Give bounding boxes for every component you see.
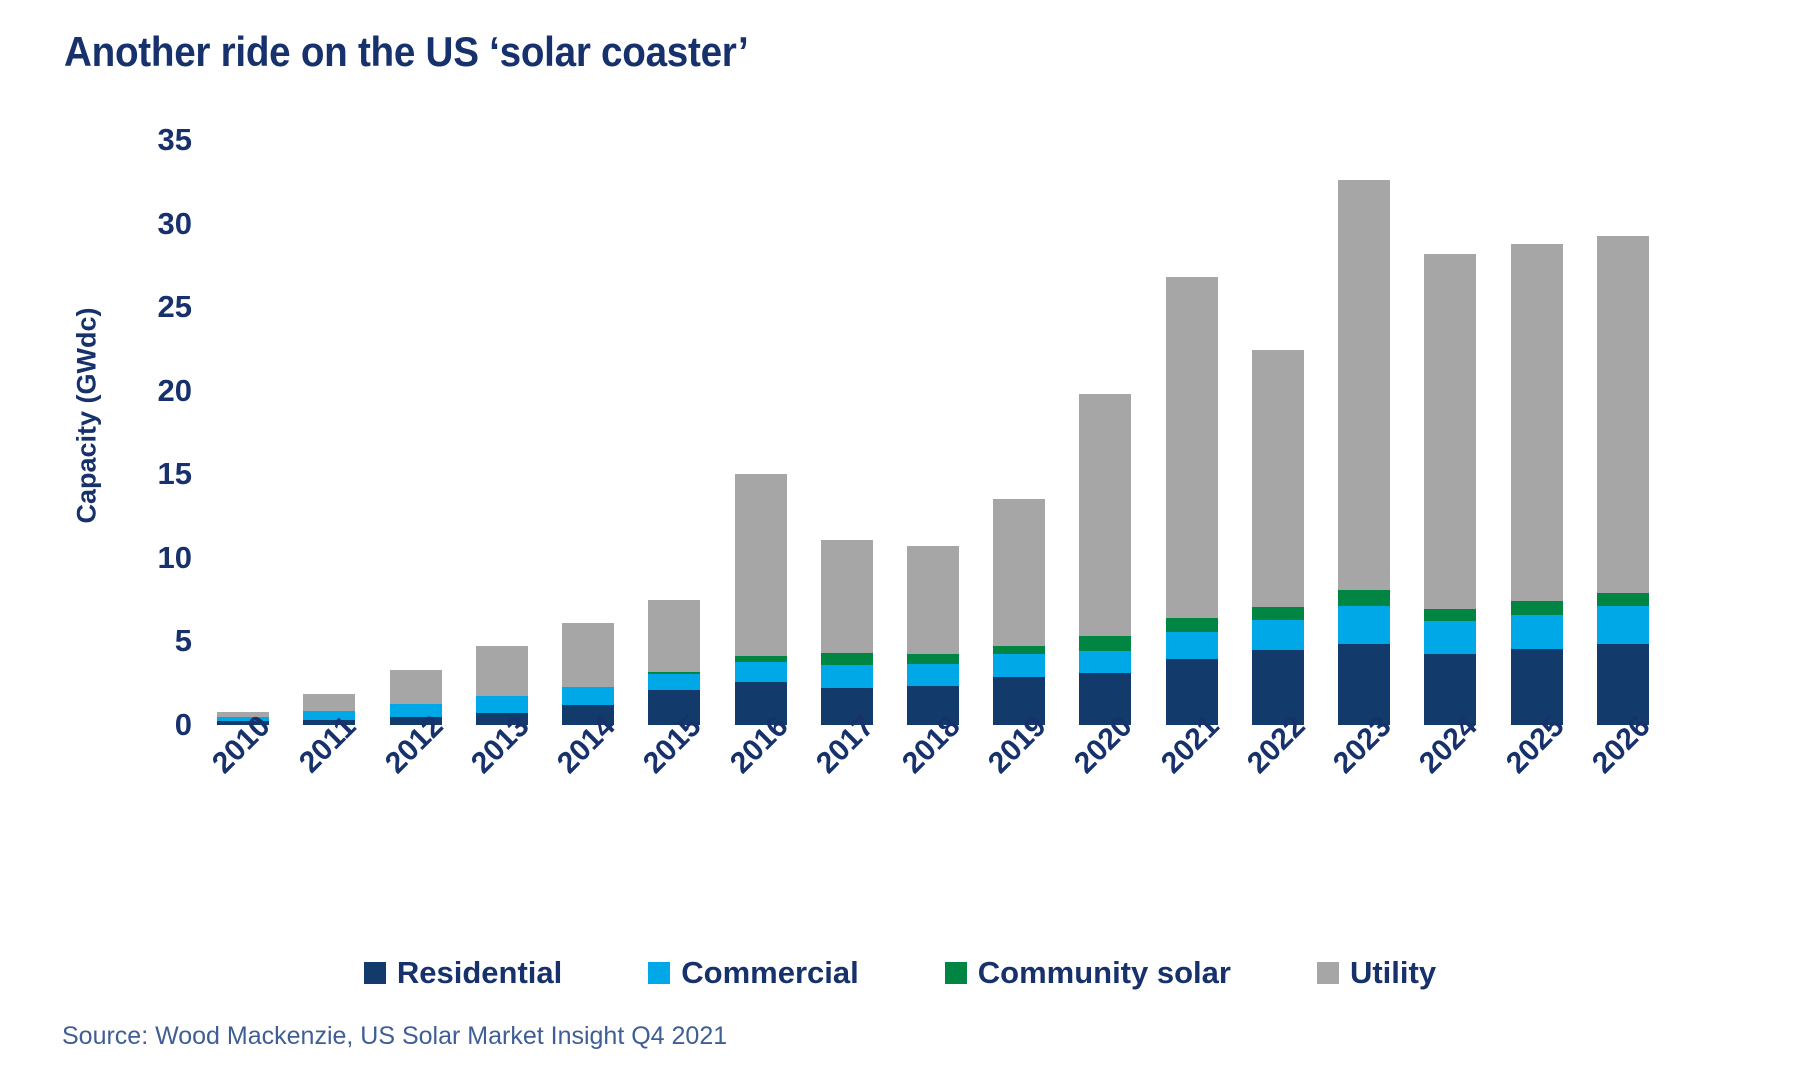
bar-segment-commercial[interactable] xyxy=(821,665,873,688)
x-axis-tick-cell: 2018 xyxy=(890,725,976,845)
stacked-bar[interactable] xyxy=(1252,350,1304,725)
bar-column[interactable] xyxy=(200,140,286,725)
bar-segment-community-solar[interactable] xyxy=(993,646,1045,654)
x-axis-tick-cell: 2024 xyxy=(1407,725,1493,845)
legend-swatch-icon xyxy=(648,962,670,984)
page-title: Another ride on the US ‘solar coaster’ xyxy=(64,28,748,76)
x-axis-tick-cell: 2025 xyxy=(1494,725,1580,845)
bar-segment-utility[interactable] xyxy=(390,670,442,704)
chart-container: Another ride on the US ‘solar coaster’ C… xyxy=(0,0,1800,1080)
plot-area xyxy=(200,140,1666,725)
bar-segment-commercial[interactable] xyxy=(562,687,614,705)
bar-segment-residential[interactable] xyxy=(1511,649,1563,725)
x-axis-tick-cell: 2013 xyxy=(459,725,545,845)
bar-segment-commercial[interactable] xyxy=(476,696,528,714)
x-axis-tick-labels: 2010201120122013201420152016201720182019… xyxy=(200,725,1666,845)
bar-segment-utility[interactable] xyxy=(562,623,614,687)
x-axis-tick-cell: 2019 xyxy=(976,725,1062,845)
bar-segment-utility[interactable] xyxy=(476,646,528,695)
bar-segment-residential[interactable] xyxy=(1166,659,1218,725)
bar-segment-community-solar[interactable] xyxy=(1338,590,1390,605)
bar-segment-community-solar[interactable] xyxy=(1511,601,1563,615)
legend-swatch-icon xyxy=(1317,962,1339,984)
stacked-bar[interactable] xyxy=(1338,180,1390,725)
legend-item-utility[interactable]: Utility xyxy=(1317,955,1436,991)
x-axis-tick-cell: 2011 xyxy=(286,725,372,845)
bar-segment-residential[interactable] xyxy=(1424,654,1476,725)
bar-segment-commercial[interactable] xyxy=(1166,632,1218,659)
legend-swatch-icon xyxy=(364,962,386,984)
legend-label: Commercial xyxy=(681,955,858,991)
bar-segment-community-solar[interactable] xyxy=(735,656,787,663)
bar-segment-utility[interactable] xyxy=(907,546,959,654)
y-axis-tick: 30 xyxy=(158,206,192,242)
legend-label: Residential xyxy=(397,955,562,991)
y-axis-tick: 15 xyxy=(158,456,192,492)
legend-item-residential[interactable]: Residential xyxy=(364,955,562,991)
bar-segment-community-solar[interactable] xyxy=(821,653,873,665)
bar-segment-utility[interactable] xyxy=(303,694,355,711)
stacked-bar[interactable] xyxy=(648,600,700,725)
bar-column[interactable] xyxy=(804,140,890,725)
bar-segment-utility[interactable] xyxy=(648,600,700,673)
bar-segment-community-solar[interactable] xyxy=(1424,609,1476,621)
y-axis-tick: 10 xyxy=(158,540,192,576)
x-axis-tick-cell: 2010 xyxy=(200,725,286,845)
x-axis-tick-cell: 2017 xyxy=(804,725,890,845)
y-axis-tick: 5 xyxy=(175,623,192,659)
y-axis-title: Capacity (GWdc) xyxy=(72,286,103,546)
bar-segment-utility[interactable] xyxy=(821,540,873,653)
bar-column[interactable] xyxy=(1321,140,1407,725)
legend-swatch-icon xyxy=(945,962,967,984)
x-axis-tick-cell: 2023 xyxy=(1321,725,1407,845)
y-axis-tick: 35 xyxy=(158,122,192,158)
bar-segment-commercial[interactable] xyxy=(735,662,787,682)
bar-segment-utility[interactable] xyxy=(1511,244,1563,601)
bar-column[interactable] xyxy=(1235,140,1321,725)
bar-column[interactable] xyxy=(1580,140,1666,725)
bar-segment-community-solar[interactable] xyxy=(1597,593,1649,606)
stacked-bar[interactable] xyxy=(1079,394,1131,725)
bar-segment-utility[interactable] xyxy=(1338,180,1390,590)
stacked-bar[interactable] xyxy=(1166,277,1218,725)
stacked-bar[interactable] xyxy=(735,474,787,726)
stacked-bar[interactable] xyxy=(476,646,528,725)
legend-label: Utility xyxy=(1350,955,1436,991)
x-axis-tick-cell: 2014 xyxy=(545,725,631,845)
bar-segment-commercial[interactable] xyxy=(1511,615,1563,649)
bar-segment-commercial[interactable] xyxy=(907,664,959,686)
x-axis-tick-cell: 2020 xyxy=(1062,725,1148,845)
stacked-bar[interactable] xyxy=(1597,236,1649,725)
x-axis-tick-cell: 2026 xyxy=(1580,725,1666,845)
stacked-bar[interactable] xyxy=(1424,254,1476,725)
bar-segment-utility[interactable] xyxy=(735,474,787,656)
bar-column[interactable] xyxy=(459,140,545,725)
x-axis-tick-cell: 2015 xyxy=(631,725,717,845)
bar-column[interactable] xyxy=(1149,140,1235,725)
bar-column[interactable] xyxy=(286,140,372,725)
bar-column[interactable] xyxy=(976,140,1062,725)
bar-segment-commercial[interactable] xyxy=(993,654,1045,677)
y-axis-tick-labels: 05101520253035 xyxy=(130,140,192,725)
bar-segment-utility[interactable] xyxy=(1079,394,1131,636)
bar-segment-utility[interactable] xyxy=(1424,254,1476,609)
x-axis-tick-cell: 2016 xyxy=(717,725,803,845)
bar-segment-commercial[interactable] xyxy=(1252,620,1304,650)
bar-segment-residential[interactable] xyxy=(1597,644,1649,725)
bar-segment-commercial[interactable] xyxy=(1424,621,1476,654)
bar-column[interactable] xyxy=(631,140,717,725)
bar-column[interactable] xyxy=(1407,140,1493,725)
bar-segment-community-solar[interactable] xyxy=(907,654,959,664)
bar-segment-residential[interactable] xyxy=(1338,644,1390,725)
bar-segment-utility[interactable] xyxy=(1252,350,1304,607)
y-axis-tick: 20 xyxy=(158,373,192,409)
x-axis-tick-cell: 2012 xyxy=(372,725,458,845)
y-axis-tick: 0 xyxy=(175,707,192,743)
bar-segment-commercial[interactable] xyxy=(390,704,442,717)
source-note: Source: Wood Mackenzie, US Solar Market … xyxy=(62,1022,727,1051)
bar-segment-commercial[interactable] xyxy=(1079,651,1131,673)
bar-group xyxy=(200,140,1666,725)
x-axis-tick-cell: 2021 xyxy=(1149,725,1235,845)
x-axis-tick-cell: 2022 xyxy=(1235,725,1321,845)
stacked-bar[interactable] xyxy=(821,540,873,725)
bar-segment-community-solar[interactable] xyxy=(1166,618,1218,632)
stacked-bar[interactable] xyxy=(1511,244,1563,725)
bar-segment-commercial[interactable] xyxy=(648,674,700,690)
bar-column[interactable] xyxy=(372,140,458,725)
chart-legend: ResidentialCommercialCommunity solarUtil… xyxy=(200,955,1600,991)
bar-segment-commercial[interactable] xyxy=(1338,606,1390,644)
y-axis-tick: 25 xyxy=(158,289,192,325)
bar-segment-residential[interactable] xyxy=(1252,650,1304,725)
stacked-bar[interactable] xyxy=(907,546,959,725)
bar-segment-commercial[interactable] xyxy=(1597,606,1649,644)
bar-segment-community-solar[interactable] xyxy=(1252,607,1304,620)
legend-label: Community solar xyxy=(978,955,1231,991)
legend-item-community-solar[interactable]: Community solar xyxy=(945,955,1231,991)
bar-column[interactable] xyxy=(1494,140,1580,725)
bar-column[interactable] xyxy=(1062,140,1148,725)
bar-column[interactable] xyxy=(717,140,803,725)
stacked-bar[interactable] xyxy=(562,623,614,725)
bar-column[interactable] xyxy=(545,140,631,725)
bar-segment-community-solar[interactable] xyxy=(1079,636,1131,652)
bar-segment-utility[interactable] xyxy=(993,499,1045,645)
stacked-bar[interactable] xyxy=(993,499,1045,725)
bar-segment-utility[interactable] xyxy=(1597,236,1649,593)
bar-segment-utility[interactable] xyxy=(1166,277,1218,618)
bar-column[interactable] xyxy=(890,140,976,725)
legend-item-commercial[interactable]: Commercial xyxy=(648,955,858,991)
